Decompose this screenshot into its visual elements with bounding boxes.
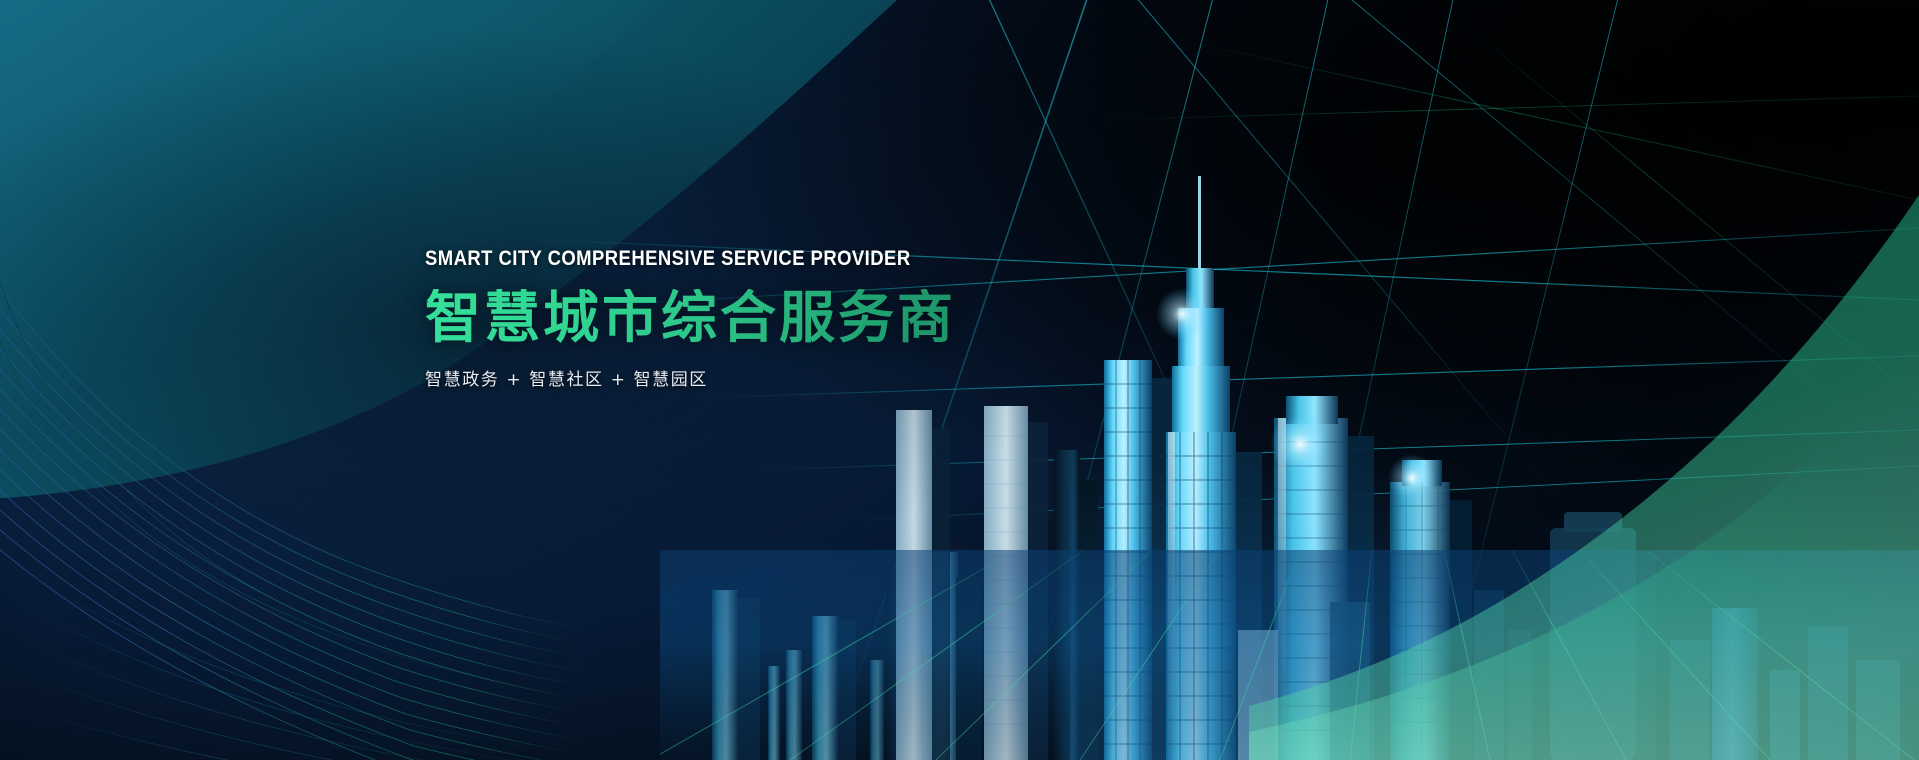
hero-copy: SMART CITY COMPREHENSIVE SERVICE PROVIDE… <box>425 248 1065 390</box>
hero-banner: SMART CITY COMPREHENSIVE SERVICE PROVIDE… <box>0 0 1919 760</box>
hero-tagline: 智慧政务 + 智慧社区 + 智慧园区 <box>425 365 1065 390</box>
green-wave-shape <box>1249 60 1919 760</box>
hero-headline: 智慧城市综合服务商 <box>425 289 1065 349</box>
hero-eyebrow: SMART CITY COMPREHENSIVE SERVICE PROVIDE… <box>425 248 988 269</box>
